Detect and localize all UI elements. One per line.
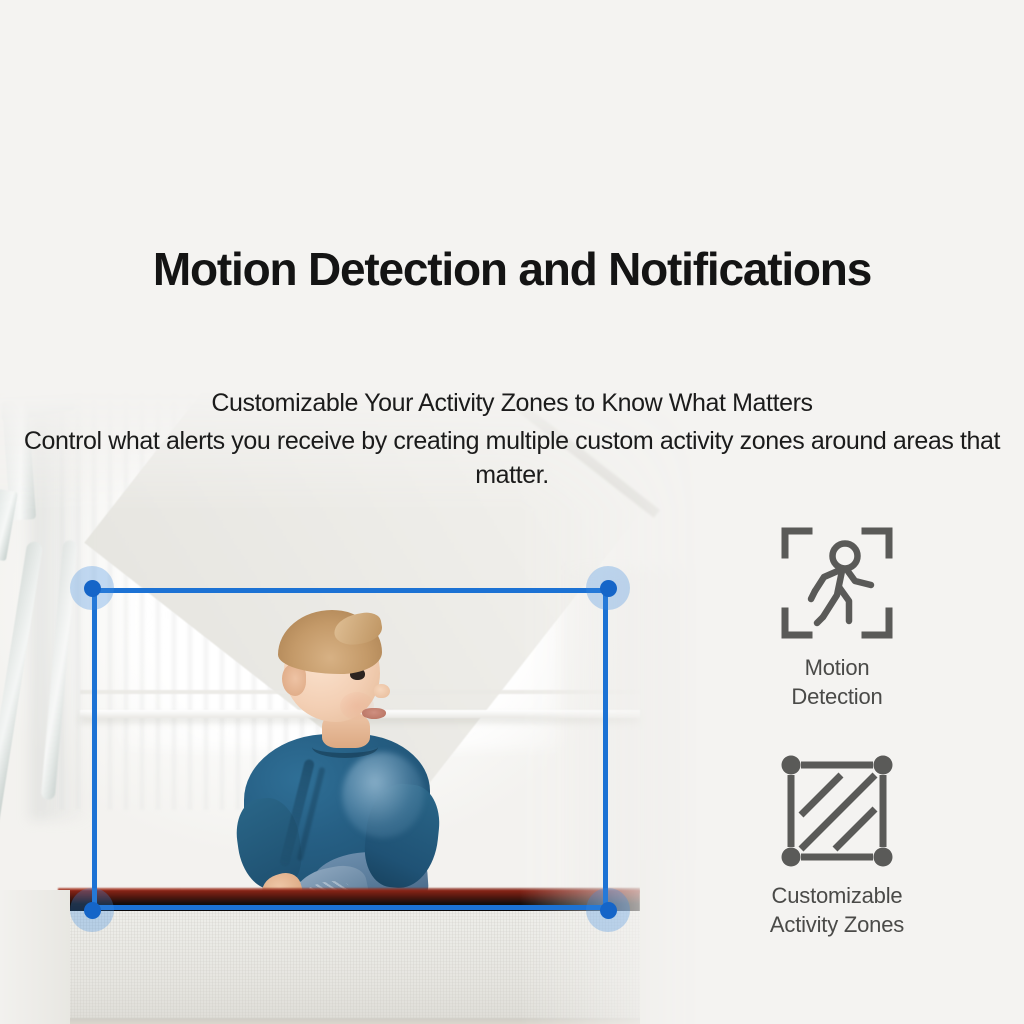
activity-zone-rectangle[interactable] [92,588,608,910]
zone-handle-bottom-left[interactable] [70,888,114,932]
carpet-texture [50,911,650,1024]
feature-label: Motion Detection [727,653,947,711]
hatched-zone-square-icon [727,753,947,869]
stair-tread [50,911,650,1024]
stair-riser-right [640,860,700,1024]
body-description: Control what alerts you receive by creat… [0,425,1024,492]
zone-handle-top-left[interactable] [70,566,114,610]
zone-handle-bottom-right[interactable] [586,888,630,932]
stair-riser-left [0,890,70,1024]
feature-activity-zones: Customizable Activity Zones [727,753,947,939]
feature-label: Customizable Activity Zones [727,881,947,939]
subheadline: Customizable Your Activity Zones to Know… [0,387,1024,420]
feature-motion-detection: Motion Detection [727,525,947,711]
walking-person-in-brackets-icon [727,525,947,641]
zone-handle-top-right[interactable] [586,566,630,610]
page-title: Motion Detection and Notifications [0,243,1024,296]
stair-tread-edge [50,1018,650,1024]
